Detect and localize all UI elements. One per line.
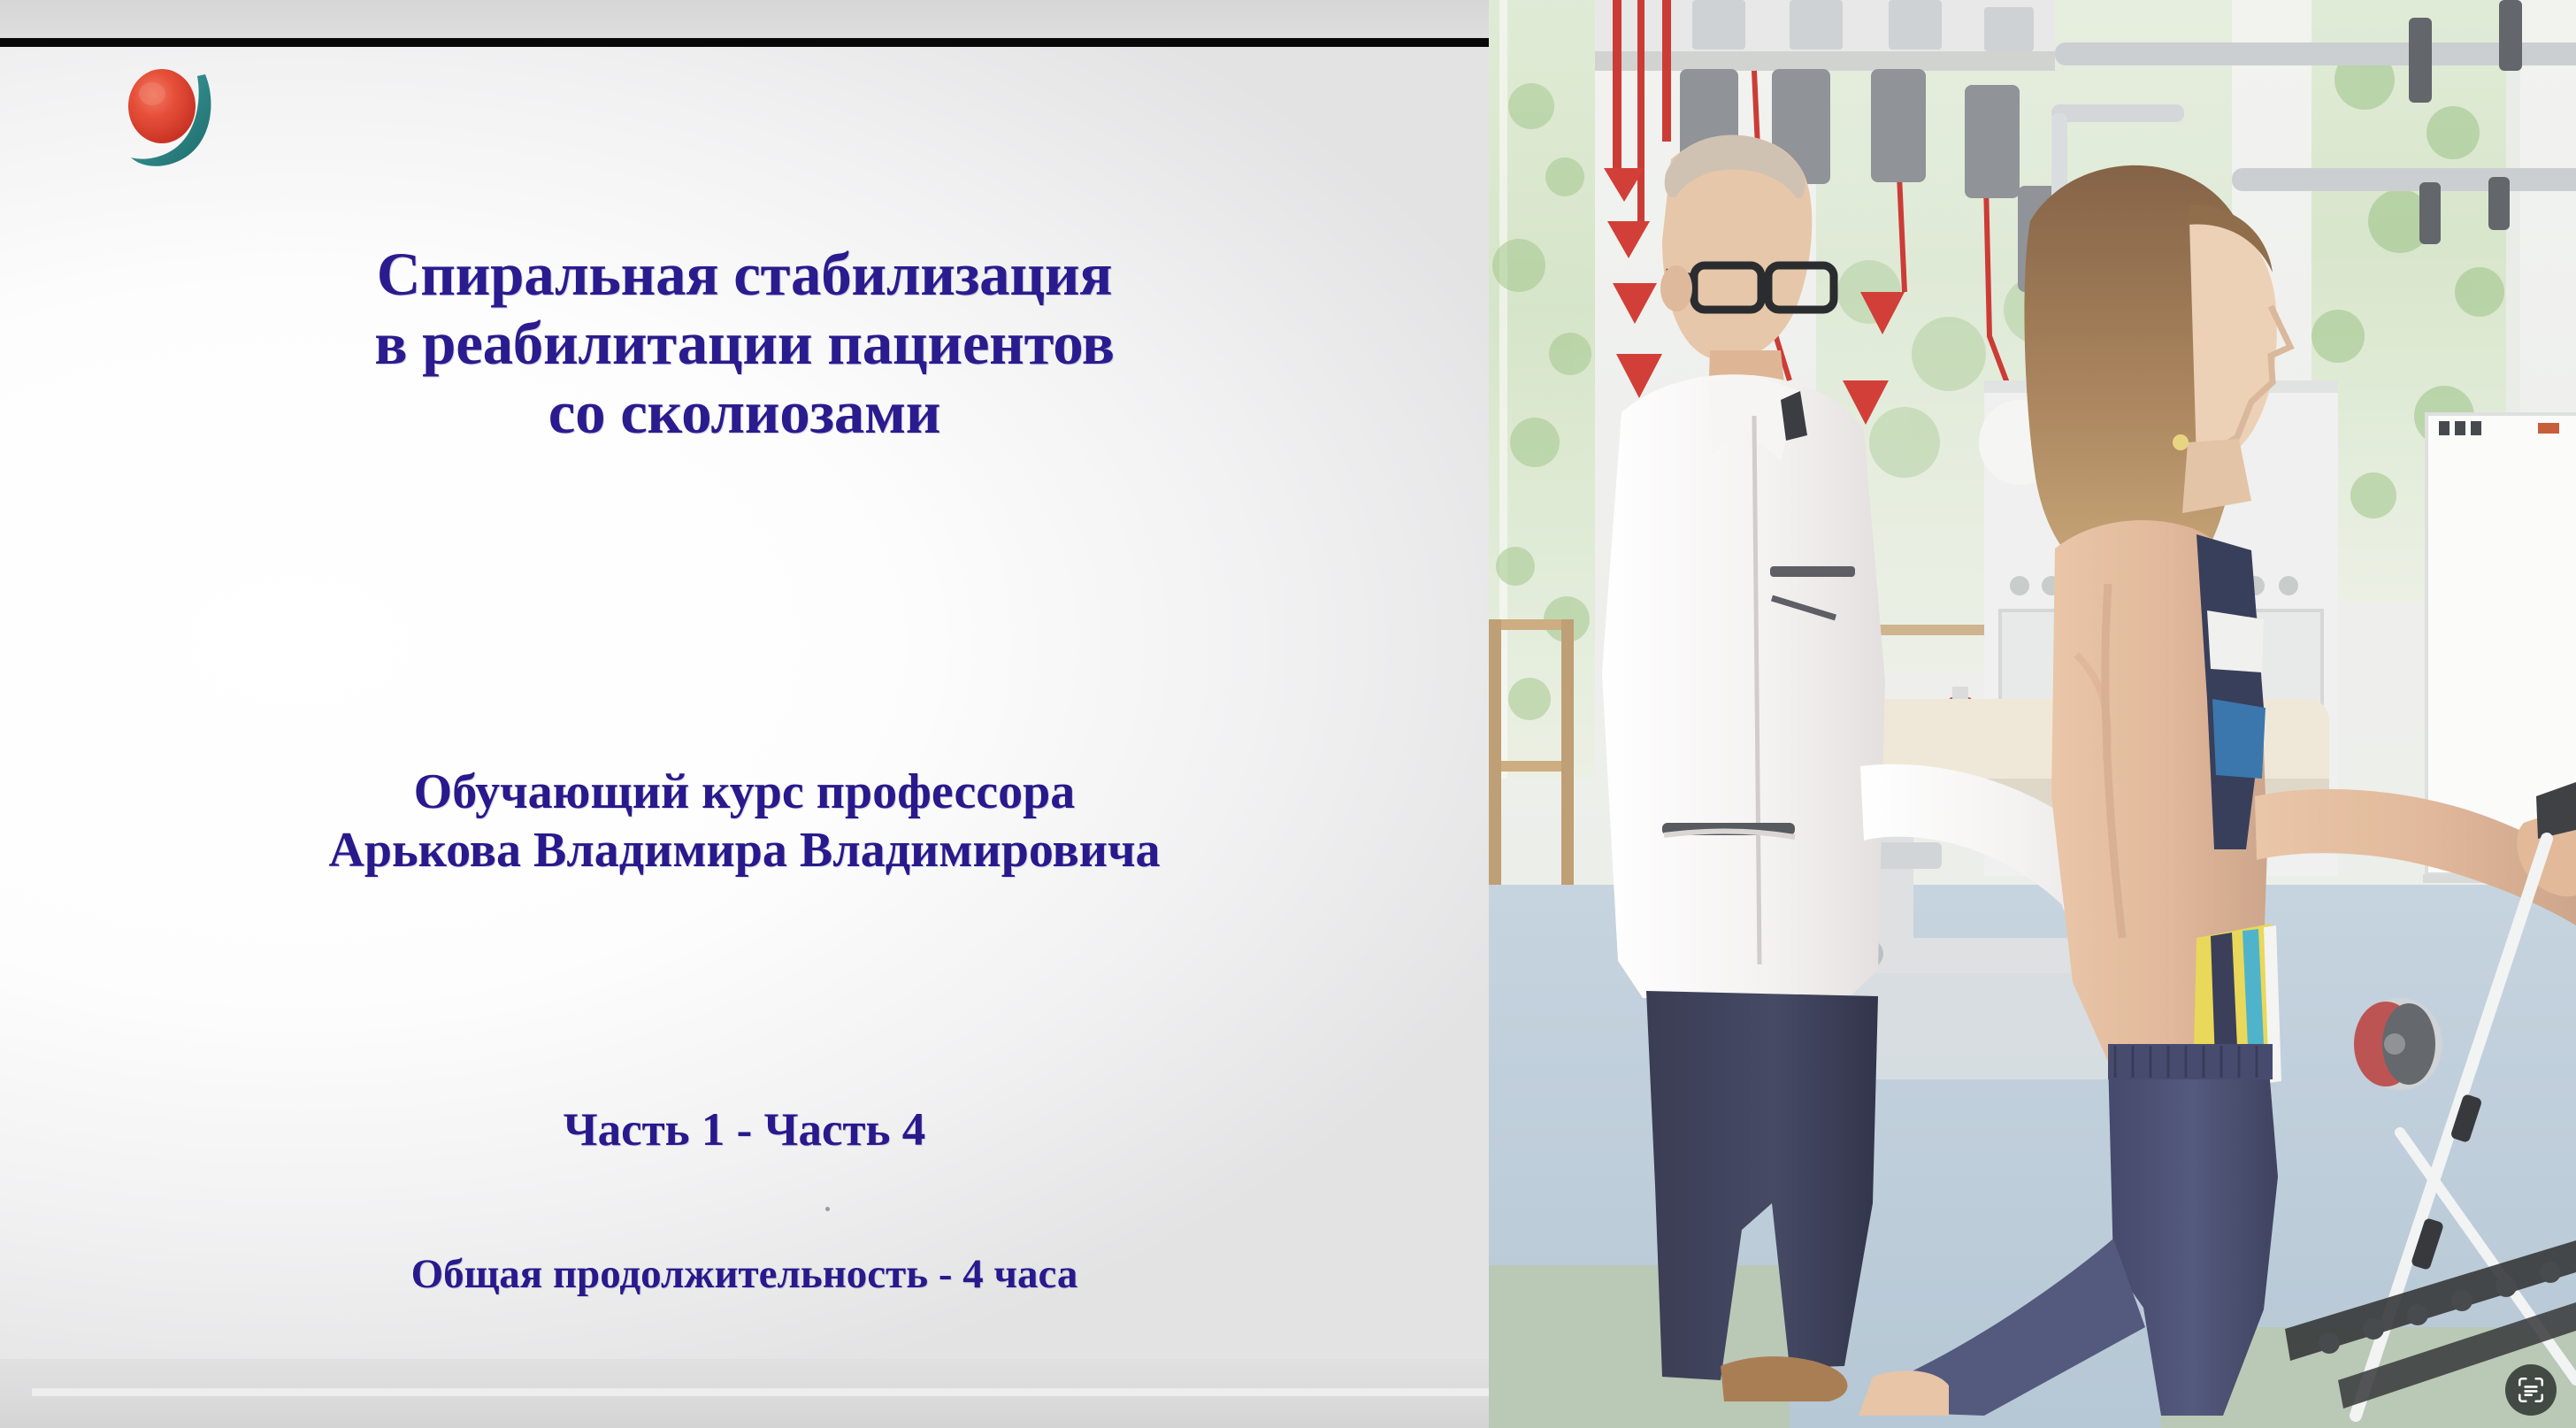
slide-header-band [0, 0, 1489, 38]
slide-title: Спиральная стабилизация в реабилитации п… [0, 241, 1489, 448]
spiral-stabilization-logo [113, 55, 228, 173]
slide-footer-band [0, 1359, 1489, 1428]
slide-total-duration: Общая продолжительность - 4 часа [0, 1252, 1489, 1298]
presentation-slide: Спиральная стабилизация в реабилитации п… [0, 0, 1489, 1428]
slide-header-divider [0, 38, 1489, 47]
slide-title-line-2: в реабилитации пациентов [0, 310, 1489, 379]
slide-title-line-3: со сколиозами [0, 379, 1489, 448]
clinic-photo [1489, 0, 2576, 1428]
video-frame: Спиральная стабилизация в реабилитации п… [0, 0, 2576, 1428]
course-line-1: Обучающий курс профессора [0, 763, 1489, 821]
slide-footer-hairline [32, 1388, 1489, 1396]
course-line-2: Арькова Владимира Владимировича [0, 821, 1489, 879]
slide-parts-range: Часть 1 - Часть 4 [0, 1104, 1489, 1155]
slide-course-author: Обучающий курс профессора Арькова Владим… [0, 763, 1489, 879]
google-lens-text-scan-button[interactable] [2505, 1364, 2557, 1416]
slide-title-line-1: Спиральная стабилизация [0, 241, 1489, 310]
slide-dot-artifact [825, 1207, 830, 1211]
